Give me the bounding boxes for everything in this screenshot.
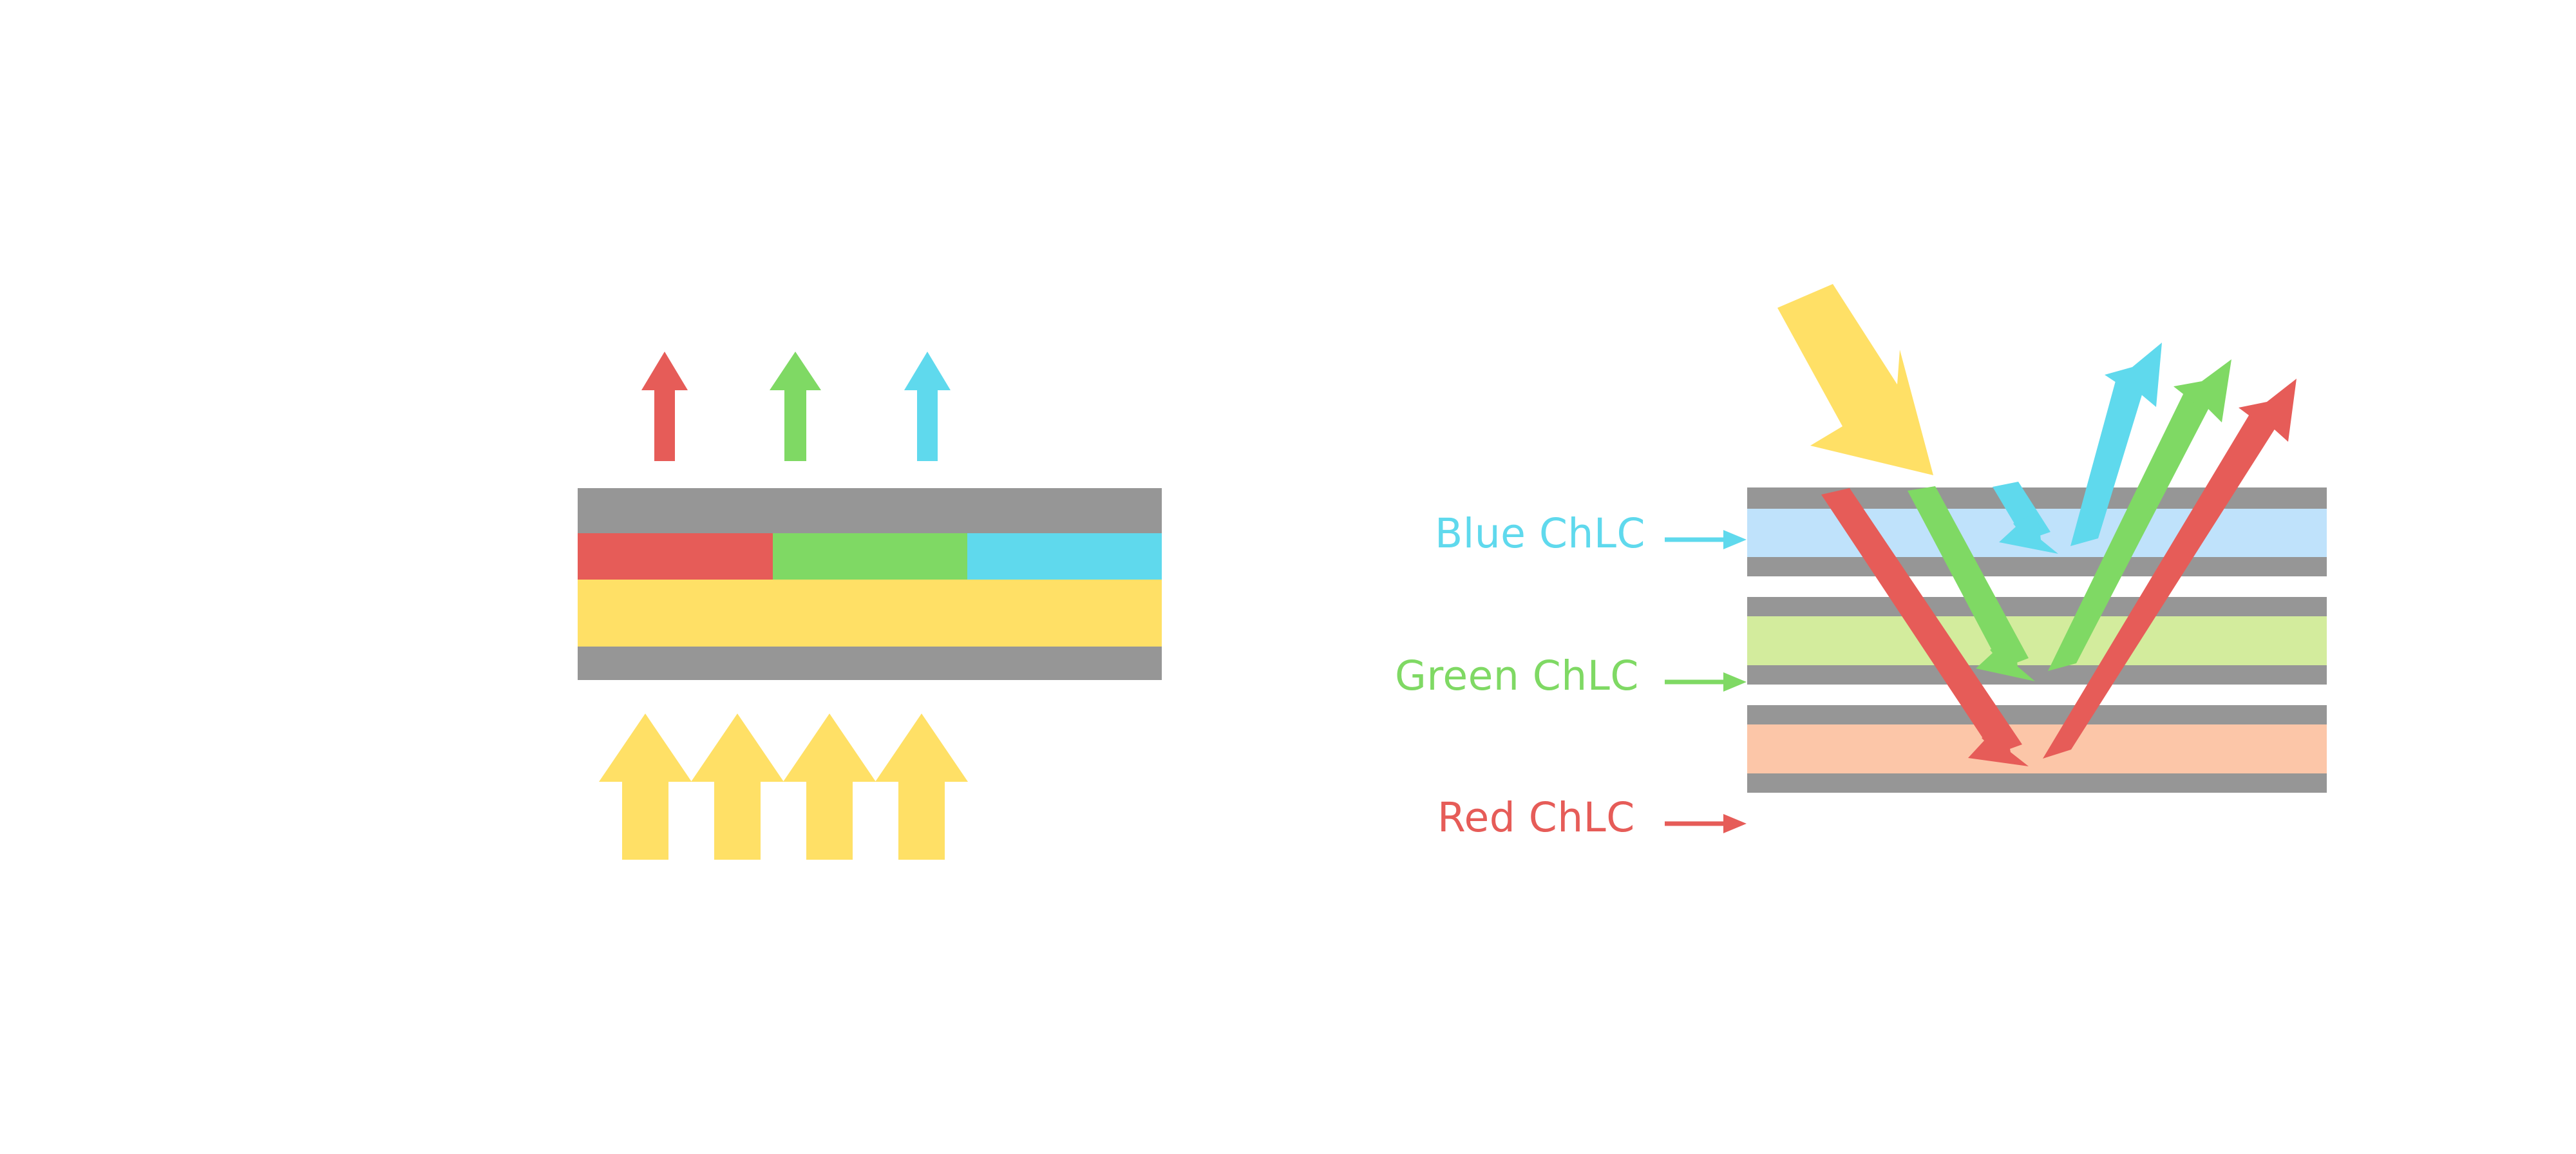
ambient-light-arrow	[1777, 284, 1933, 475]
arrow-down-right-icon	[1777, 284, 1933, 475]
arrow-up-icon	[599, 714, 692, 860]
bottom-substrate	[578, 647, 1162, 680]
arrow-up-icon	[904, 352, 951, 461]
backlight-arrow-2	[691, 714, 784, 860]
label-green-chlc-arrow	[1665, 672, 1747, 692]
gap-2	[1747, 685, 2327, 705]
backlight-arrow-4	[875, 714, 968, 860]
emitted-green-arrow	[770, 352, 821, 461]
electrode-3	[1747, 597, 2327, 616]
arrow-right-head-icon	[1723, 530, 1747, 549]
diagram-vector-art	[0, 0, 2576, 1154]
electrode-5	[1747, 705, 2327, 724]
arrow-up-icon	[770, 352, 821, 461]
green-subpixel	[773, 533, 967, 580]
backlight-arrow-1	[599, 714, 692, 860]
electrode-6	[1747, 773, 2327, 793]
red-chlc-layer	[1747, 724, 2327, 773]
arrow-right-head-icon	[1723, 672, 1747, 692]
arrow-up-icon	[875, 714, 968, 860]
arrow-up-icon	[641, 352, 688, 461]
arrow-up-icon	[691, 714, 784, 860]
blue-subpixel	[967, 533, 1162, 580]
label-red-chlc-arrow	[1665, 814, 1747, 833]
top-substrate	[578, 488, 1162, 533]
backlight-layer	[578, 580, 1162, 647]
emitted-red-arrow	[641, 352, 688, 461]
electrode-4	[1747, 665, 2327, 685]
red-subpixel	[578, 533, 773, 580]
arrow-right-head-icon	[1723, 814, 1747, 833]
emitted-cyan-arrow	[904, 352, 951, 461]
green-chlc-layer	[1747, 616, 2327, 665]
arrow-up-icon	[783, 714, 876, 860]
electrode-2	[1747, 557, 2327, 576]
figure-canvas: Blue ChLC Green ChLC Red ChLC	[0, 0, 2576, 1154]
backlight-arrow-3	[783, 714, 876, 860]
label-blue-chlc-arrow	[1665, 530, 1747, 549]
gap-1	[1747, 576, 2327, 597]
